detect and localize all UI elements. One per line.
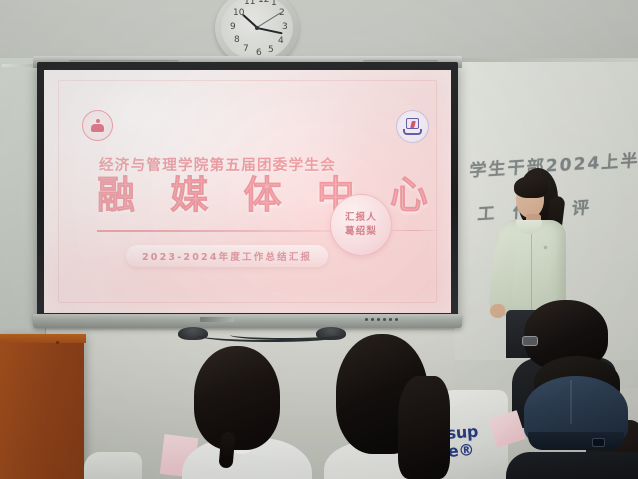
clock-numeral-9: 9 <box>230 23 236 32</box>
reporter-badge: 汇报人 葛绍梨 <box>330 194 392 256</box>
clock-second-hand <box>257 12 281 28</box>
clock-numeral-8: 8 <box>234 36 240 45</box>
reporter-name: 葛绍梨 <box>345 226 377 238</box>
clock-numeral-1: 1 <box>271 0 277 8</box>
presenter-jacket-button-2 <box>544 246 547 249</box>
audience-1-hair <box>194 346 280 450</box>
clock-numeral-12: 12 <box>258 0 269 5</box>
cap-buckle <box>592 438 605 447</box>
classroom-scene: 学生干部2024上半年度 工作 评 12 1 2 3 4 5 6 7 8 9 1… <box>0 0 638 479</box>
audience-3-hair <box>398 376 450 479</box>
glasses-icon <box>522 336 538 346</box>
whiteboard-top-edge <box>455 58 638 62</box>
reporter-label: 汇报人 <box>345 212 377 224</box>
clock-numeral-3: 3 <box>282 23 288 32</box>
presentation-slide[interactable]: 经济与管理学院第五届团委学生会 融 媒 体 中 心 汇报人 葛绍梨 2023-2… <box>44 70 451 313</box>
smartboard-cable-2 <box>230 330 340 340</box>
clock-numeral-4: 4 <box>278 37 284 46</box>
wooden-podium <box>0 336 84 479</box>
cap-seam <box>570 380 572 424</box>
clock-numeral-5: 5 <box>268 46 274 55</box>
podium-top-edge <box>0 334 86 343</box>
clock-numeral-7: 7 <box>243 45 249 54</box>
clock-numeral-11: 11 <box>244 0 255 7</box>
audience-member-1 <box>186 346 304 479</box>
clock-minute-hand <box>257 27 283 34</box>
slide-subtitle: 经济与管理学院第五届团委学生会 <box>99 154 336 175</box>
audience-member-3: ssup se® <box>404 376 508 479</box>
podium-screw-icon <box>56 341 59 344</box>
smartboard-brand-plate <box>200 317 234 322</box>
presenter-hair-front <box>514 176 548 198</box>
audience-member-5 <box>516 356 638 479</box>
smartboard-bottom-rail <box>33 314 462 328</box>
presenter-hand <box>490 304 505 318</box>
book-emblem-icon <box>396 110 429 143</box>
university-seal-icon <box>82 110 113 141</box>
audience-member-7 <box>84 452 142 479</box>
clock-center-pin <box>255 26 259 30</box>
audience-5-shoulder <box>506 452 638 479</box>
cap-band <box>528 432 624 450</box>
smartboard-indicator-lights[interactable] <box>365 318 398 321</box>
slide-date-line: 2023-2024年度工作总结汇报 <box>126 245 328 267</box>
